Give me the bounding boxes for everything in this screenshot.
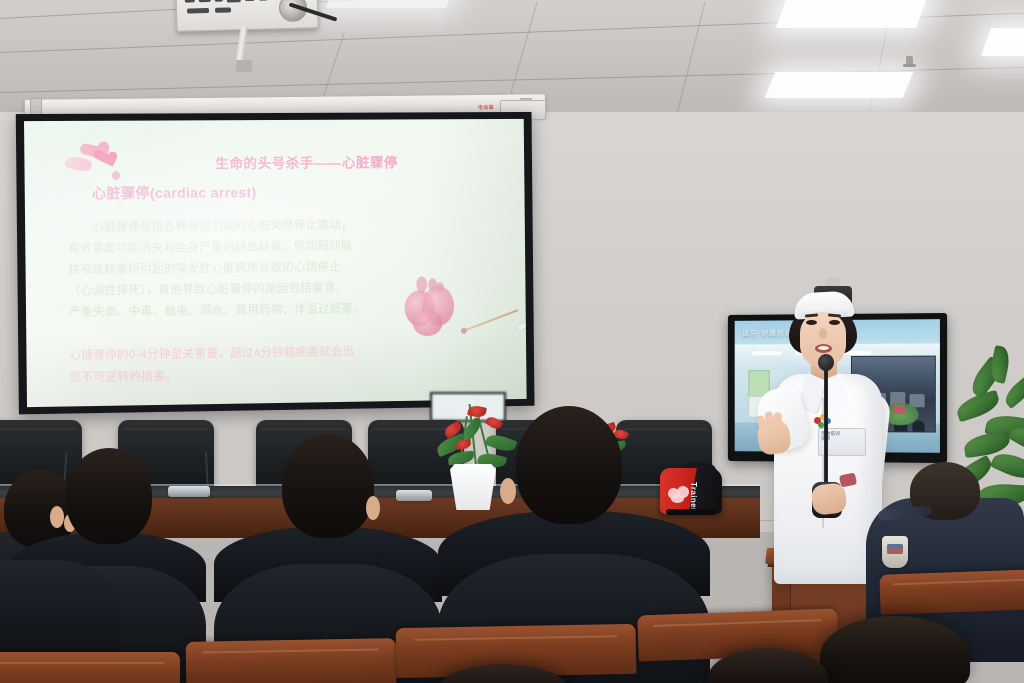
- screen-brand-label: 电动幕: [478, 104, 494, 111]
- projection-screen: 生命的头号杀手——心脏骤停 心脏骤停(cardiac arrest) 心脏骤停是…: [16, 112, 535, 414]
- audience-chair: [0, 652, 180, 683]
- police-shoulder-patch: [882, 536, 908, 568]
- pointer-stick-icon: [464, 309, 518, 331]
- ceiling-light-1: [776, 0, 928, 28]
- heart-logo-icon: [65, 137, 122, 182]
- audience-chair: [879, 569, 1024, 615]
- aed-label: Trainer: [689, 482, 698, 511]
- audience-chair: [186, 638, 397, 683]
- slide-surface: 生命的头号杀手——心脏骤停 心脏骤停(cardiac arrest) 心脏骤停是…: [24, 119, 527, 407]
- presenter-mouth: [815, 344, 832, 353]
- handheld-microphone: [818, 354, 834, 371]
- photo-scene: 电动幕 生命的头号杀手——心脏骤停 心脏骤停(cardiac arrest) 心…: [0, 0, 1024, 683]
- slide-highlight-text: 心搏骤停的0-4分钟至关重要，超过4分钟脑细胞就会出 现不可逆转的损害。: [69, 339, 460, 389]
- microphone-stem: [824, 368, 828, 488]
- cartoon-doctor-illustration: [514, 287, 527, 396]
- presenter-right-hand: [811, 482, 848, 515]
- slide-title: 生命的头号杀手——心脏骤停: [176, 151, 435, 173]
- sprinkler-head: [906, 56, 913, 66]
- ceiling-light-4: [326, 0, 455, 8]
- ceiling-light-2: [765, 72, 914, 98]
- anatomical-heart-illustration: [402, 276, 458, 338]
- presenter-lapel-pin: [814, 414, 832, 428]
- slide-subtitle: 心脏骤停(cardiac arrest): [92, 182, 257, 203]
- slide-highlight-line-2: 现不可逆转的损害。: [69, 361, 459, 389]
- projector-ceiling-plate: [236, 60, 252, 72]
